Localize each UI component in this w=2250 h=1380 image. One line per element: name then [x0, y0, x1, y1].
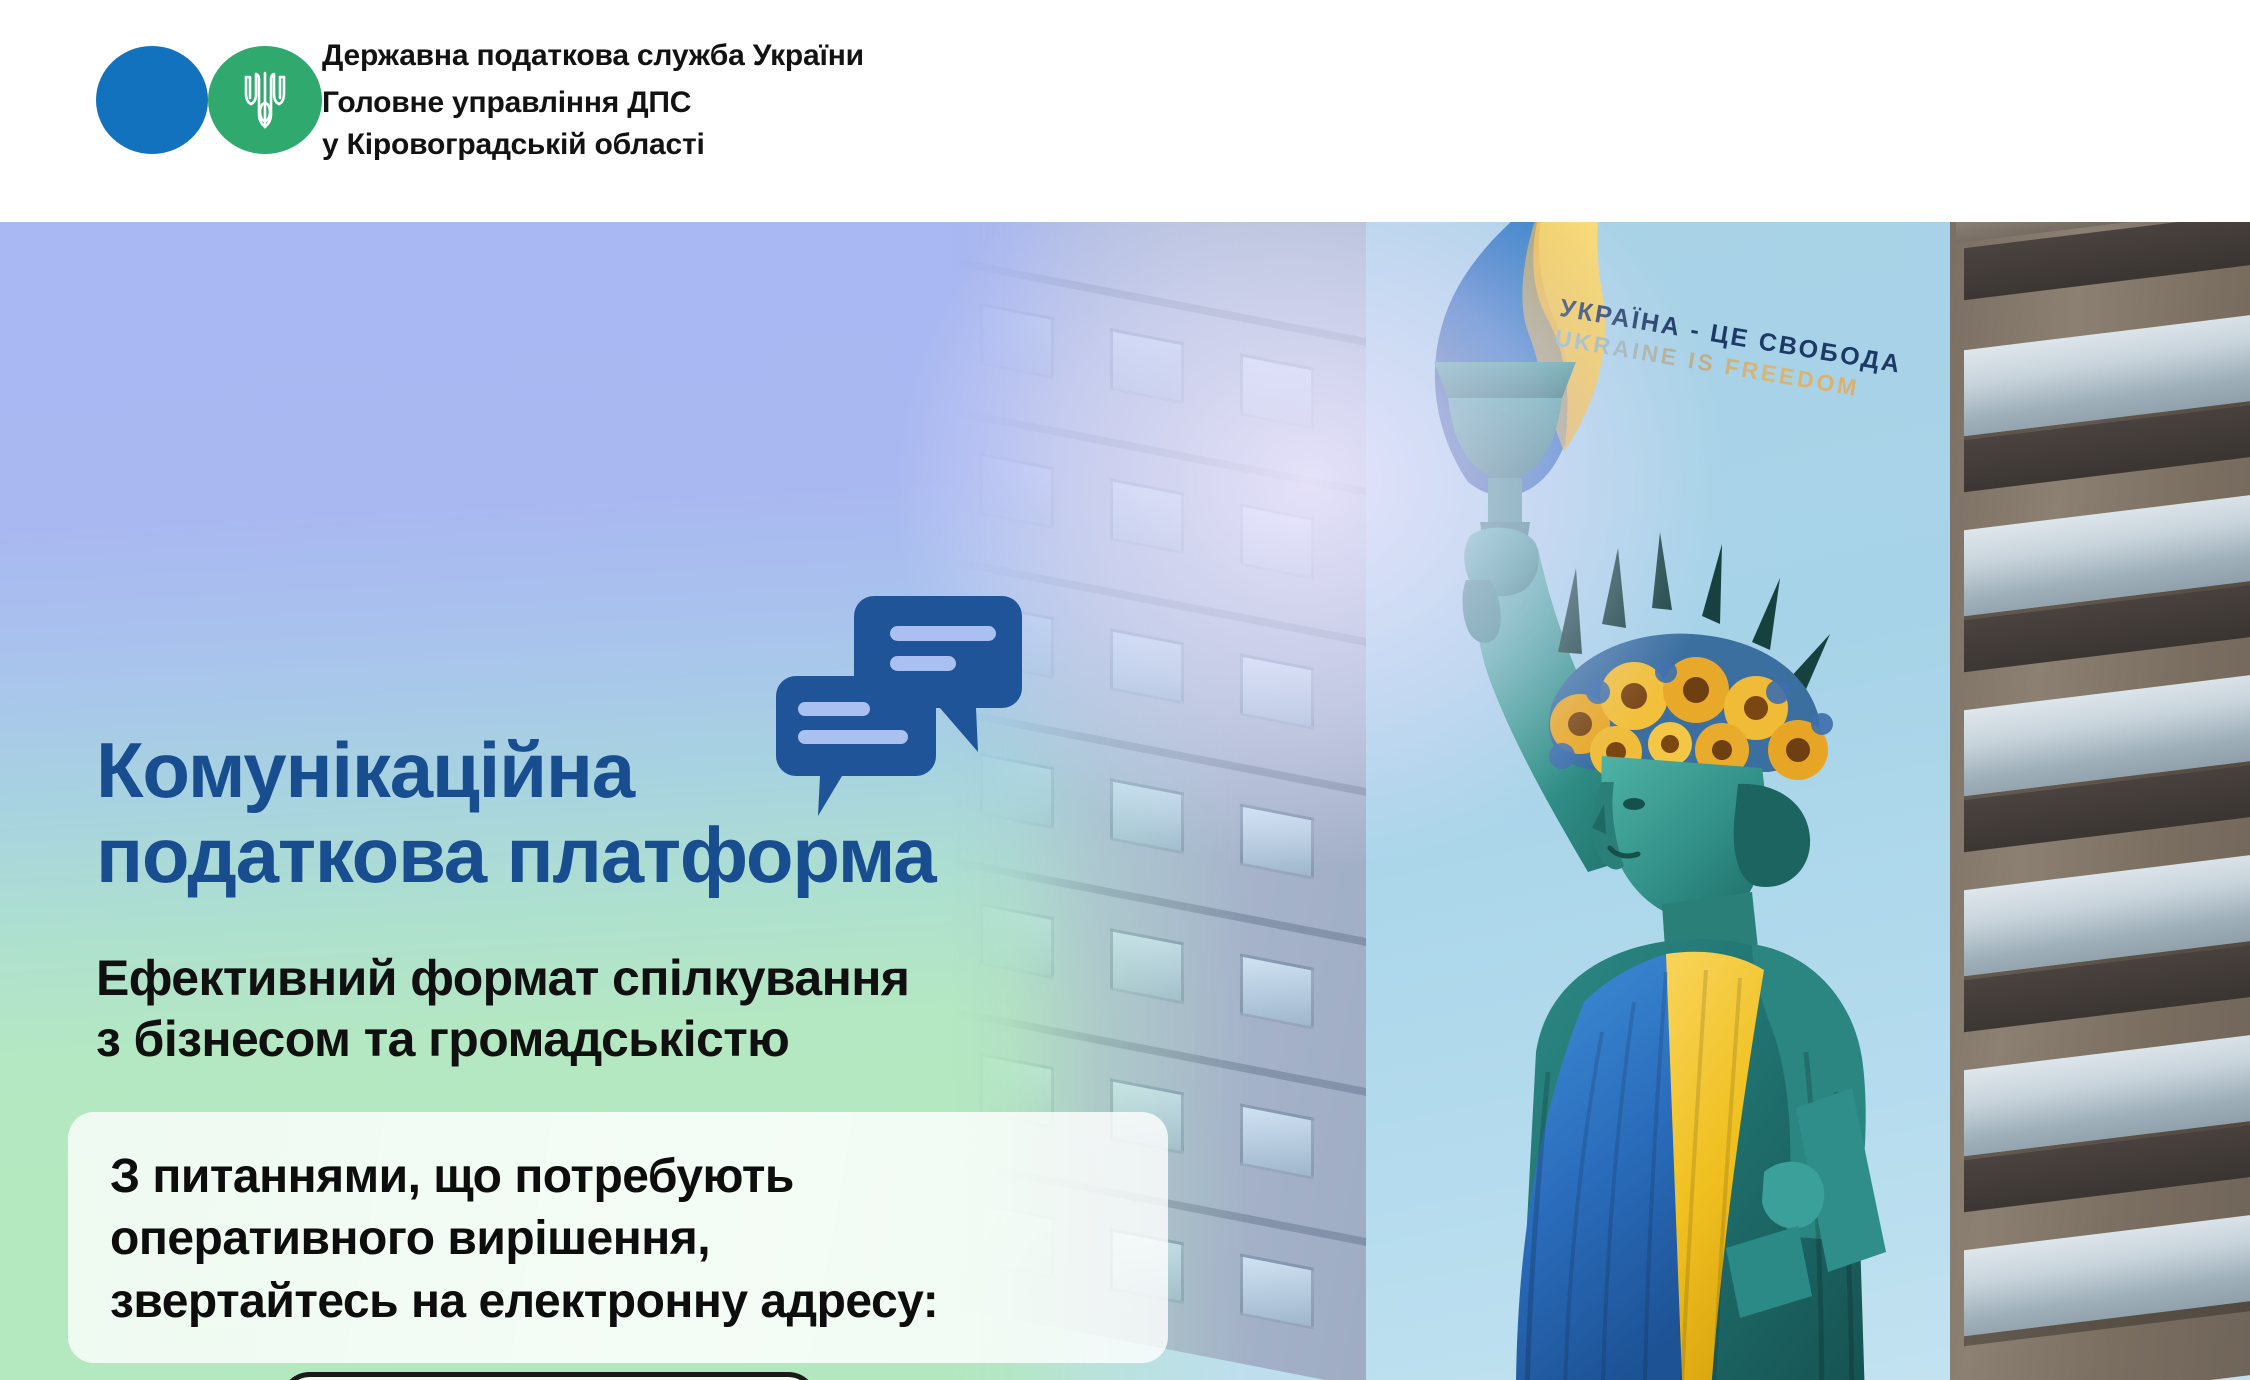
- ukraine-trident-icon: [239, 68, 291, 132]
- subtitle-line-1: Ефективний формат спілкування: [96, 948, 1176, 1009]
- statue-of-liberty-mural-figure: [1366, 352, 1962, 1380]
- card-line-1: З питаннями, що потребують: [110, 1146, 1126, 1208]
- logo-green-circle-icon: [208, 46, 322, 154]
- banner-content: Комунікаційна податкова платформа Ефекти…: [0, 222, 1250, 1380]
- banner-stage: УКРАЇНА - ЦЕ СВОБОДА UKRAINE IS FREEDOM: [0, 222, 2250, 1380]
- agency-logo: [96, 46, 322, 154]
- org-line-1: Державна податкова служба України: [322, 35, 864, 76]
- mural-wall: УКРАЇНА - ЦЕ СВОБОДА UKRAINE IS FREEDOM: [1366, 222, 1962, 1380]
- headline-line-2: податкова платформа: [96, 813, 1176, 898]
- logo-blue-circle-icon: [96, 46, 208, 154]
- page-header: Державна податкова служба України Головн…: [0, 0, 2250, 222]
- email-address-button[interactable]: kr.ikc@tax.gov.ua: [280, 1372, 818, 1380]
- card-line-3: звертайтесь на електронну адресу:: [110, 1271, 1126, 1333]
- contact-instructions-card: З питаннями, що потребують оперативного …: [68, 1112, 1168, 1363]
- card-line-2: оперативного вирішення,: [110, 1208, 1126, 1270]
- sunflower-wreath: [1549, 634, 1833, 784]
- page-title: Комунікаційна податкова платформа: [96, 728, 1176, 898]
- right-building-tower: [1950, 222, 2250, 1380]
- subtitle-line-2: з бізнесом та громадськістю: [96, 1009, 1176, 1070]
- org-line-2: Головне управління ДПС: [322, 82, 864, 123]
- headline-line-1: Комунікаційна: [96, 728, 1176, 813]
- page-subtitle: Ефективний формат спілкування з бізнесом…: [96, 948, 1176, 1070]
- agency-name-block: Державна податкова служба України Головн…: [322, 40, 864, 160]
- org-line-3: у Кіровоградській області: [322, 124, 864, 165]
